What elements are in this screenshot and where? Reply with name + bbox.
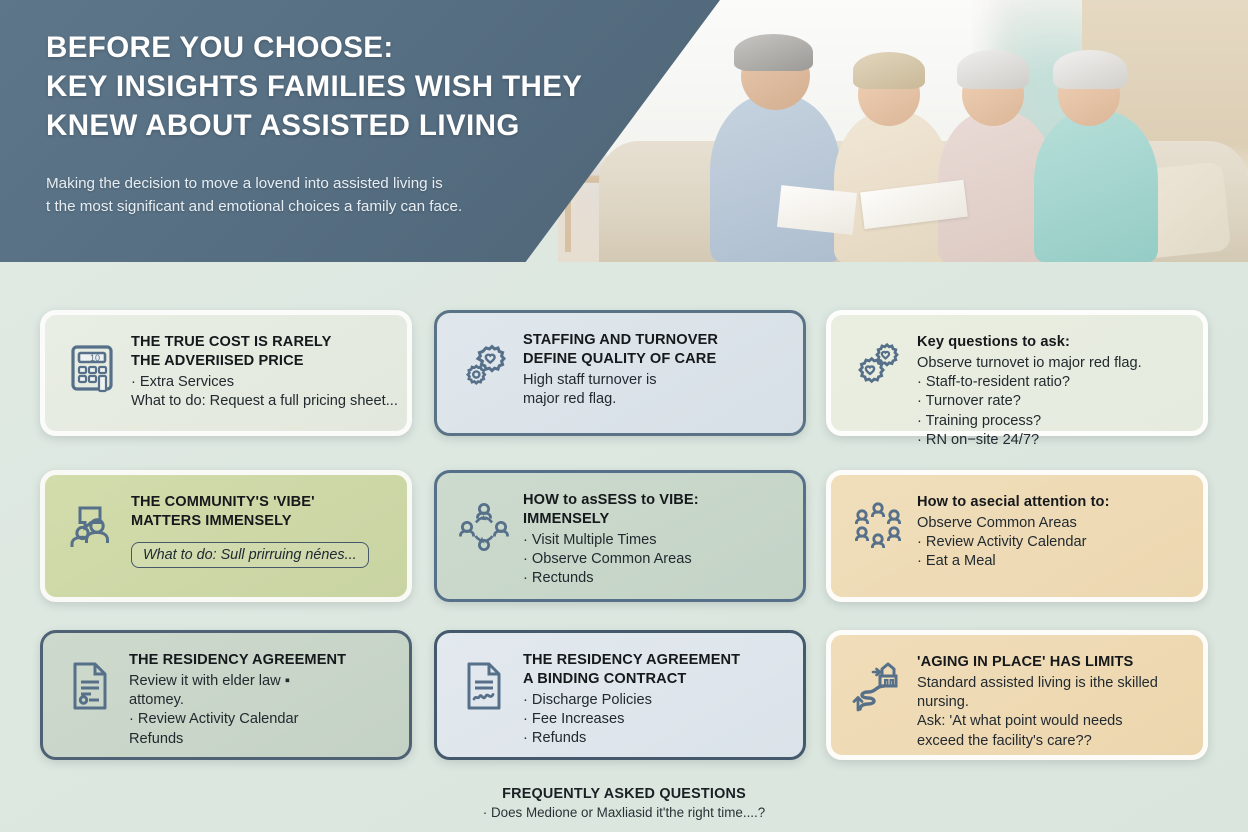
header-banner: BEFORE YOU CHOOSE: KEY INSIGHTS FAMILIES… bbox=[0, 0, 1248, 262]
people-board-icon bbox=[61, 497, 123, 559]
card-line: Standard assisted living is ithe skilled bbox=[917, 674, 1187, 693]
page-title: BEFORE YOU CHOOSE: KEY INSIGHTS FAMILIES… bbox=[46, 28, 646, 146]
card-line: exceed the facility's care?? bbox=[917, 732, 1187, 751]
card-title-line-2: THE ADVERIISED PRICE bbox=[131, 353, 304, 369]
card-body: THE RESIDENCY AGREEMENT Review it with e… bbox=[129, 647, 393, 749]
people-group-icon bbox=[847, 497, 909, 559]
card-title: How to asecial attention to: bbox=[917, 493, 1187, 512]
card-line: · Refunds bbox=[523, 729, 787, 748]
card-body: HOW to asSESS to VIBE: IMMENSELY · Visit… bbox=[523, 487, 787, 589]
card-title-line-2: IMMENSELY bbox=[523, 511, 609, 527]
page-title-line-1: BEFORE YOU CHOOSE: bbox=[46, 28, 646, 67]
insight-card-grid: 10 THE TRUE COST IS RARELY THE ADVERIISE… bbox=[0, 262, 1248, 772]
card-title-line-2: MATTERS IMMENSELY bbox=[131, 513, 292, 529]
svg-text:10: 10 bbox=[90, 353, 100, 363]
card-line: · Rectunds bbox=[523, 569, 787, 588]
card-callout-pill: What to do: Sull prirruing nénes... bbox=[131, 542, 369, 568]
page-title-line-2: KEY INSIGHTS FAMILIES WISH THEY bbox=[46, 67, 646, 106]
gears-hearts-icon bbox=[847, 337, 909, 399]
card-title: STAFFING AND TURNOVER DEFINE QUALITY OF … bbox=[523, 331, 787, 369]
card-text: · Visit Multiple Times · Observe Common … bbox=[523, 531, 787, 589]
card-key-questions[interactable]: Key questions to ask: Observe turnovet i… bbox=[826, 310, 1208, 436]
photo-person-woman2-hair bbox=[957, 50, 1029, 89]
card-line: · Eat a Meal bbox=[917, 552, 1187, 571]
card-text: Observe Common Areas · Review Activity C… bbox=[917, 514, 1187, 572]
card-body: THE COMMUNITY'S 'VIBE' MATTERS IMMENSELY… bbox=[131, 489, 391, 568]
card-title-line-1: THE TRUE COST IS RARELY bbox=[131, 334, 331, 350]
card-line: · Review Activity Calendar bbox=[917, 533, 1187, 552]
card-text: · Discharge Policies · Fee Increases · R… bbox=[523, 691, 787, 749]
photo-person-woman1-hair bbox=[853, 52, 925, 89]
card-line: · Review Activity Calendar bbox=[129, 710, 393, 729]
card-text: · Extra Services What to do: Request a f… bbox=[131, 373, 391, 412]
document-signature-icon bbox=[453, 655, 515, 717]
card-title-line-1: STAFFING AND TURNOVER bbox=[523, 332, 718, 348]
card-line: · Visit Multiple Times bbox=[523, 531, 787, 550]
card-line: · Extra Services bbox=[131, 373, 391, 392]
card-title-line-2: DEFINE QUALITY OF CARE bbox=[523, 351, 716, 367]
card-title-line-1: THE RESIDENCY AGREEMENT bbox=[523, 652, 740, 668]
document-icon bbox=[59, 655, 121, 717]
card-staffing-turnover[interactable]: STAFFING AND TURNOVER DEFINE QUALITY OF … bbox=[434, 310, 806, 436]
card-title: THE COMMUNITY'S 'VIBE' MATTERS IMMENSELY bbox=[131, 493, 391, 531]
card-community-vibe[interactable]: THE COMMUNITY'S 'VIBE' MATTERS IMMENSELY… bbox=[40, 470, 412, 602]
card-line: · Training process? bbox=[917, 412, 1187, 431]
card-aging-in-place[interactable]: 'AGING IN PLACE' HAS LIMITS Standard ass… bbox=[826, 630, 1208, 760]
card-line: nursing. bbox=[917, 693, 1187, 712]
card-title: Key questions to ask: bbox=[917, 333, 1187, 352]
faq-title: FREQUENTLY ASKED QUESTIONS bbox=[0, 786, 1248, 802]
card-line: Observe Common Areas bbox=[917, 514, 1187, 533]
card-line: · Discharge Policies bbox=[523, 691, 787, 710]
card-text: High staff turnover is major red flag. bbox=[523, 371, 787, 410]
card-body: How to asecial attention to: Observe Com… bbox=[917, 489, 1187, 572]
card-title: 'AGING IN PLACE' HAS LIMITS bbox=[917, 653, 1187, 672]
card-title: HOW to asSESS to VIBE: IMMENSELY bbox=[523, 491, 787, 529]
card-body: STAFFING AND TURNOVER DEFINE QUALITY OF … bbox=[523, 327, 787, 409]
faq-section: FREQUENTLY ASKED QUESTIONS · Does Medion… bbox=[0, 786, 1248, 820]
card-text: Review it with elder law ▪ attomey. · Re… bbox=[129, 672, 393, 749]
card-binding-contract[interactable]: THE RESIDENCY AGREEMENT A BINDING CONTRA… bbox=[434, 630, 806, 760]
photo-person-woman3-hair bbox=[1053, 50, 1126, 89]
path-to-home-icon bbox=[847, 657, 909, 719]
card-line: · Fee Increases bbox=[523, 710, 787, 729]
page-subtitle-line-2: t the most significant and emotional cho… bbox=[46, 195, 576, 218]
card-line: Refunds bbox=[129, 730, 393, 749]
card-title: THE RESIDENCY AGREEMENT bbox=[129, 651, 393, 670]
photo-person-man-hair bbox=[734, 34, 813, 71]
card-line: What to do: Request a full pricing sheet… bbox=[131, 392, 391, 411]
page-subtitle-line-1: Making the decision to move a lovend int… bbox=[46, 172, 576, 195]
card-line: attomey. bbox=[129, 691, 393, 710]
people-cycle-icon bbox=[453, 495, 515, 557]
card-title: THE RESIDENCY AGREEMENT A BINDING CONTRA… bbox=[523, 651, 787, 689]
card-line: · Turnover rate? bbox=[917, 392, 1187, 411]
photo-person-woman3-body bbox=[1034, 110, 1158, 262]
card-body: THE TRUE COST IS RARELY THE ADVERIISED P… bbox=[131, 329, 391, 411]
page-title-line-3: KNEW ABOUT ASSISTED LIVING bbox=[46, 106, 646, 145]
card-line: · Observe Common Areas bbox=[523, 550, 787, 569]
card-body: Key questions to ask: Observe turnovet i… bbox=[917, 329, 1187, 450]
card-line: major red flag. bbox=[523, 390, 787, 409]
photo-person-man-body bbox=[710, 94, 841, 262]
card-body: THE RESIDENCY AGREEMENT A BINDING CONTRA… bbox=[523, 647, 787, 749]
card-text: Observe turnovet io major red flag. · St… bbox=[917, 354, 1187, 450]
faq-question: · Does Medione or Maxliasid it'the right… bbox=[0, 805, 1248, 820]
card-body: 'AGING IN PLACE' HAS LIMITS Standard ass… bbox=[917, 649, 1187, 751]
card-text: Standard assisted living is ithe skilled… bbox=[917, 674, 1187, 751]
card-line: Observe turnovet io major red flag. bbox=[917, 354, 1187, 373]
card-line: Ask: 'At what point would needs bbox=[917, 712, 1187, 731]
calculator-icon: 10 bbox=[61, 337, 123, 399]
card-title-line-1: HOW to asSESS to VIBE: bbox=[523, 492, 699, 508]
card-title-line-2: A BINDING CONTRACT bbox=[523, 671, 686, 687]
card-true-cost[interactable]: 10 THE TRUE COST IS RARELY THE ADVERIISE… bbox=[40, 310, 412, 436]
card-assess-vibe[interactable]: HOW to asSESS to VIBE: IMMENSELY · Visit… bbox=[434, 470, 806, 602]
card-line: High staff turnover is bbox=[523, 371, 787, 390]
card-line: · Staff-to-resident ratio? bbox=[917, 373, 1187, 392]
card-title: THE TRUE COST IS RARELY THE ADVERIISED P… bbox=[131, 333, 391, 371]
photo-brochure-left bbox=[777, 185, 857, 235]
card-line: · RN on−site 24/7? bbox=[917, 431, 1187, 450]
card-title-line-1: THE COMMUNITY'S 'VIBE' bbox=[131, 494, 315, 510]
card-residency-agreement[interactable]: THE RESIDENCY AGREEMENT Review it with e… bbox=[40, 630, 412, 760]
page-subtitle: Making the decision to move a lovend int… bbox=[46, 172, 576, 218]
card-special-attention[interactable]: How to asecial attention to: Observe Com… bbox=[826, 470, 1208, 602]
card-line: Review it with elder law ▪ bbox=[129, 672, 393, 691]
gears-heart-icon bbox=[453, 335, 515, 397]
